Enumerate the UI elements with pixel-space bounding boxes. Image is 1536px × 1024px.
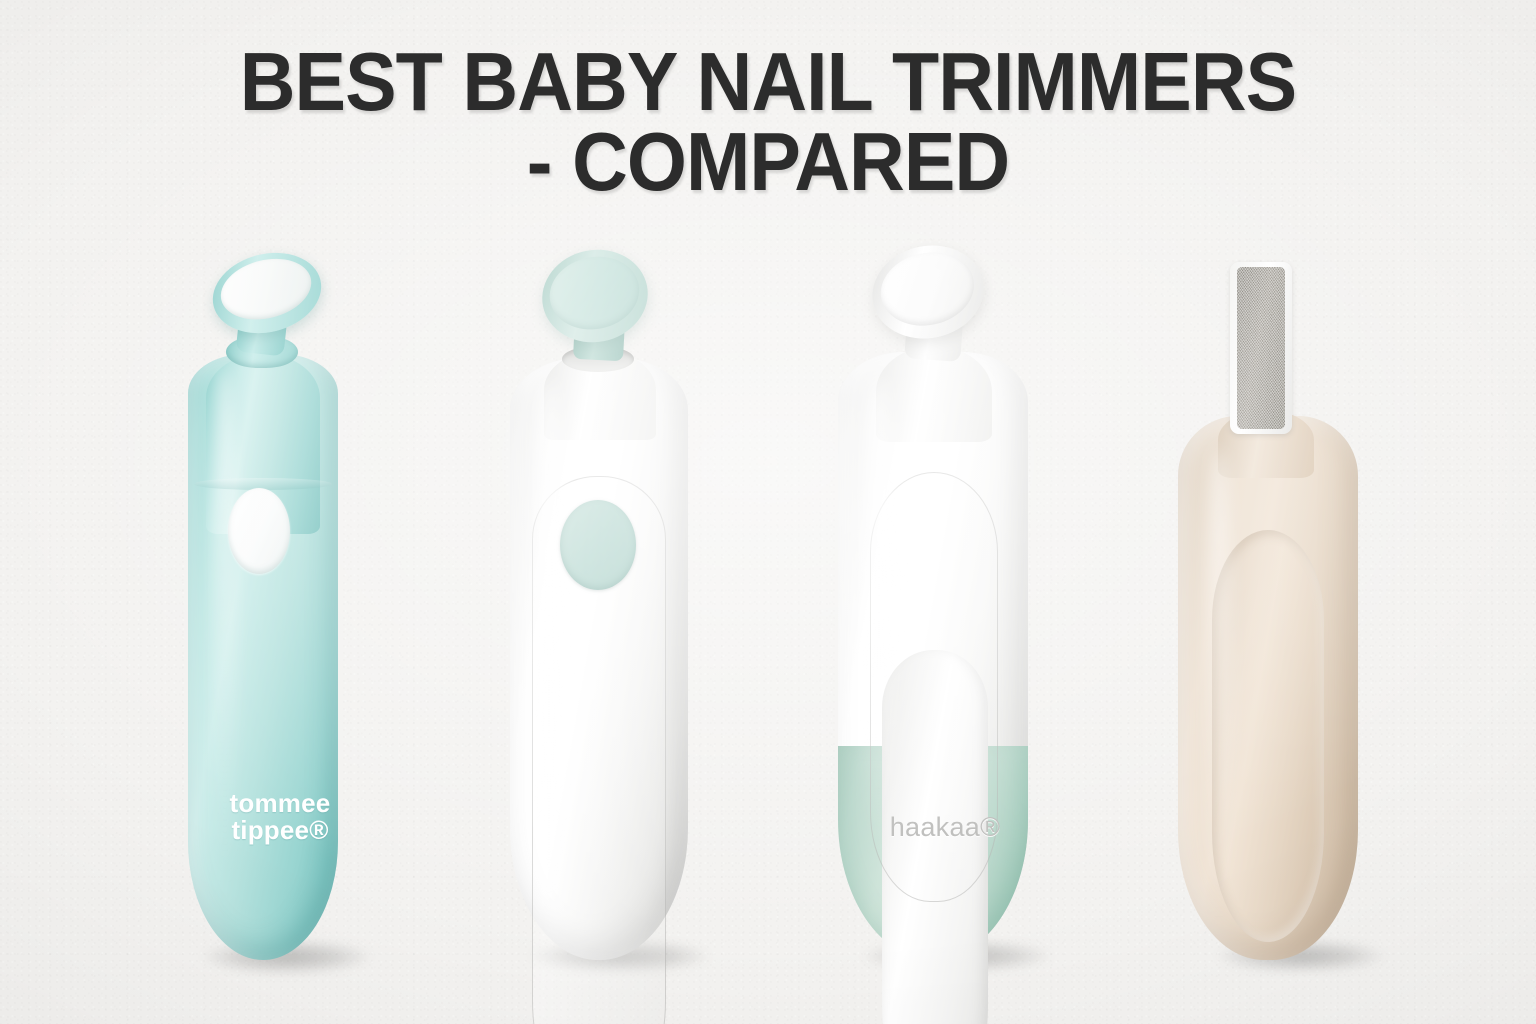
specular-highlight <box>864 378 894 858</box>
specular-highlight <box>534 380 564 900</box>
power-button[interactable] <box>228 488 290 574</box>
product-shoulder <box>876 346 992 442</box>
power-button[interactable] <box>560 500 636 590</box>
filing-disc-face <box>874 244 981 334</box>
brand-logo-tommee-tippee: tommee tippee® <box>150 790 410 843</box>
filing-disc-cap <box>534 241 656 352</box>
product-comparison-image: BEST BABY NAIL TRIMMERS - COMPARED tomme… <box>0 0 1536 1024</box>
product-4-manual-nail-file <box>1150 250 1430 970</box>
product-3-haakaa: haakaa® <box>800 250 1090 970</box>
page-title: BEST BABY NAIL TRIMMERS - COMPARED <box>54 42 1482 201</box>
filing-disc-face <box>214 250 317 329</box>
brand-logo-haakaa: haakaa® <box>800 812 1090 843</box>
emery-blade <box>1237 267 1285 429</box>
filing-disc-cap <box>864 235 993 348</box>
product-2-white-trimmer <box>470 250 750 970</box>
filing-disc-face <box>543 249 645 337</box>
product-1-tommee-tippee: tommee tippee® <box>150 250 410 970</box>
filing-disc-cap <box>204 242 330 344</box>
specular-highlight <box>1206 450 1232 920</box>
